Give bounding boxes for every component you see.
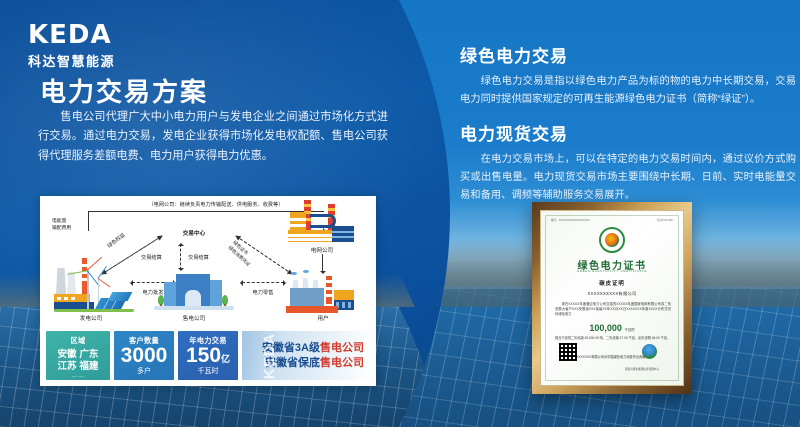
left-column: KEDA 科达智慧能源 电力交易方案 售电公司代理广大中小电力用户与发电企业之间… [0, 0, 420, 427]
stat-annual-value: 150 [186, 344, 221, 367]
section-spot-trading: 电力现货交易 在电力交易市场上，可以在特定的电力交易时间内，通过议价方式购买或出… [460, 120, 796, 205]
certificate-issuer: 国家可再生能源信息管理中心 [613, 367, 671, 371]
certificate-subtitle: GREEN ELECTRICITY CERTIFICATE [541, 269, 683, 273]
section-2-body: 在电力交易市场上，可以在特定的电力交易时间内，通过议价方式购买或出售电量。电力现… [460, 151, 796, 205]
certificate-photo: 编号：XXXXXXXXXXXXXXXXXX （证书 NO.001） 绿色电力证书… [532, 202, 692, 394]
certificate-org: XXXXXXXXXX有限公司 [541, 291, 683, 297]
certificate-number: 编号：XXXXXXXXXXXXXXXXXX [551, 218, 590, 222]
selling-company-icon [154, 268, 234, 312]
badge-watermark: KEDA [261, 332, 278, 379]
stat-annual-suffix: 亿 [221, 354, 230, 364]
diagram-node-selling: 售电公司 [164, 314, 224, 322]
diagram-retail-arrow [242, 282, 284, 283]
certificate-badge-icon [642, 344, 657, 359]
diagram-node-grid: 电网公司 [294, 246, 350, 254]
section-1-body: 绿色电力交易是指以绿色电力产品为标的物的电力中长期交易，交易电力同时提供国家规定… [460, 73, 796, 109]
stat-region-caption: 区域 [46, 336, 110, 346]
stats-strip: 区域 安徽 广东 江苏 福建 …… 客户数量 3000 多户 年电力交易 150… [40, 327, 376, 386]
diagram-retail-label: 电力零售 [243, 288, 283, 296]
stat-customers: 客户数量 3000 多户 [114, 331, 174, 380]
stat-customers-value: 3000 [114, 345, 174, 367]
poster-canvas: KEDA 科达智慧能源 电力交易方案 售电公司代理广大中小电力用户与发电企业之间… [0, 0, 800, 427]
certificate-qr-code [559, 343, 577, 361]
certificate-detail: 相当于减排二氧化碳 49,000.00 吨，二氧化硫 47.00 千克，氮氧化物… [555, 336, 671, 341]
certificate-seal-icon [599, 227, 625, 253]
generation-company-icon [54, 254, 132, 312]
diagram-grid-to-user-arrow [322, 254, 323, 272]
certificate-paragraph: 现在XXXXX年度通过电力公司交易的XXXXX年度国家电网有限公司向二氧安徽大客… [555, 302, 671, 317]
section-green-power-trading: 绿色电力交易 绿色电力交易是指以绿色电力产品为标的物的电力中长期交易，交易电力同… [460, 42, 796, 109]
page-description: 售电公司代理广大中小电力用户与发电企业之间通过市场化方式进行交易。通过电力交易，… [38, 108, 388, 166]
certificate-serial: （证书 NO.001） [655, 218, 675, 222]
certificate-document: 编号：XXXXXXXXXXXXXXXXXX （证书 NO.001） 绿色电力证书… [540, 210, 684, 386]
right-column: 绿色电力交易 绿色电力交易是指以绿色电力产品为标的物的电力中长期交易，交易电力同… [456, 0, 800, 427]
certificate-amount: 100,000 千瓦时 [541, 323, 683, 333]
certificate-frame: 编号：XXXXXXXXXXXXXXXXXX （证书 NO.001） 绿色电力证书… [532, 202, 692, 394]
stat-qualification-badge: KEDA 安徽省3A级售电公司 安徽省保底售电公司 [242, 331, 370, 380]
stat-annual-unit: 千瓦时 [178, 366, 238, 376]
certificate-kind: 碳皮证明 [541, 279, 683, 287]
stat-region-unit: …… [46, 373, 110, 379]
diagram-node-user: 用户 [298, 314, 348, 322]
grid-company-icon [288, 200, 358, 246]
brand-logo: KEDA 科达智慧能源 [28, 22, 115, 70]
logo-subtitle: 科达智慧能源 [28, 51, 115, 70]
certificate-amount-unit: 千瓦时 [624, 328, 634, 332]
stat-annual-trading: 年电力交易 150亿 千瓦时 [178, 331, 238, 380]
page-title: 电力交易方案 [40, 72, 208, 109]
section-1-title: 绿色电力交易 [460, 42, 796, 67]
badge-line-1-suffix: 售电公司 [320, 342, 364, 354]
badge-line-2-suffix: 售电公司 [320, 357, 364, 369]
certificate-topline: 编号：XXXXXXXXXXXXXXXXXX （证书 NO.001） [551, 218, 675, 222]
info-card: （电网公司：继续负责电力传输配送、供电服务、收费等） 电能量 输配费用 交易中心… [40, 196, 376, 386]
stat-region: 区域 安徽 广东 江苏 福建 …… [46, 331, 110, 380]
user-icon [286, 276, 360, 314]
diagram-node-generation: 发电公司 [64, 314, 118, 322]
certificate-amount-value: 100,000 [589, 323, 622, 333]
stat-customers-unit: 多户 [114, 366, 174, 376]
section-2-title: 电力现货交易 [460, 120, 796, 145]
stat-region-value: 安徽 广东 江苏 福建 [46, 349, 110, 372]
trading-flow-diagram: （电网公司：继续负责电力传输配送、供电服务、收费等） 电能量 输配费用 交易中心… [40, 196, 376, 327]
logo-wordmark: KEDA [28, 22, 115, 48]
